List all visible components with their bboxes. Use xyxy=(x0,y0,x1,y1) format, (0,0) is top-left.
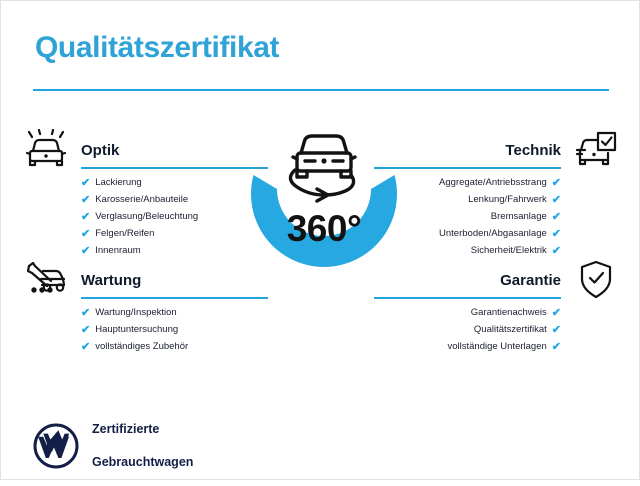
certificate-page: Qualitätszertifikat xyxy=(0,0,640,480)
list-item: vollständige Unterlagen✔ xyxy=(374,339,561,356)
list-item-label: Garantienachweis xyxy=(471,308,547,318)
list-item: Qualitätszertifikat✔ xyxy=(374,322,561,339)
footer-line-1: Zertifizierte xyxy=(92,421,193,437)
list-item-label: vollständige Unterlagen xyxy=(447,342,546,352)
check-icon: ✔ xyxy=(552,246,561,257)
section-title-technik: Technik xyxy=(505,142,561,159)
vw-footer: Zertifizierte Gebrauchtwagen xyxy=(33,405,193,486)
check-icon: ✔ xyxy=(552,212,561,223)
car-shine-icon xyxy=(23,129,69,171)
list-item-label: Unterboden/Abgasanlage xyxy=(439,229,547,239)
list-item-label: Sicherheit/Elektrik xyxy=(471,246,547,256)
check-icon: ✔ xyxy=(81,246,90,257)
footer-line-2: Gebrauchtwagen xyxy=(92,454,193,470)
list-item-label: Karosserie/Anbauteile xyxy=(95,195,188,205)
check-icon: ✔ xyxy=(552,195,561,206)
section-title-optik: Optik xyxy=(81,142,119,159)
car-checkbox-icon xyxy=(573,129,619,171)
car-rotate-360-icon xyxy=(290,136,355,201)
section-title-garantie: Garantie xyxy=(500,272,561,289)
check-icon: ✔ xyxy=(81,212,90,223)
check-icon: ✔ xyxy=(81,229,90,240)
page-title: Qualitätszertifikat xyxy=(35,31,279,65)
title-divider xyxy=(33,89,609,91)
list-item: ✔Hauptuntersuchung xyxy=(81,322,268,339)
list-item-label: Wartung/Inspektion xyxy=(95,308,177,318)
check-icon: ✔ xyxy=(552,325,561,336)
badge-360-gebrauchtwagen-check: Gebrauchtwagen-Check 360° xyxy=(229,113,419,313)
badge-center-label: 360° xyxy=(287,208,362,249)
footer-label: Zertifizierte Gebrauchtwagen xyxy=(92,405,193,486)
check-icon: ✔ xyxy=(81,178,90,189)
car-service-wrench-icon xyxy=(23,259,69,301)
check-icon: ✔ xyxy=(81,342,90,353)
list-item-label: Felgen/Reifen xyxy=(95,229,154,239)
list-item-label: vollständiges Zubehör xyxy=(95,342,188,352)
section-title-wartung: Wartung xyxy=(81,272,141,289)
list-item-label: Lackierung xyxy=(95,178,141,188)
check-icon: ✔ xyxy=(552,342,561,353)
list-item-label: Innenraum xyxy=(95,246,140,256)
list-item-label: Qualitätszertifikat xyxy=(474,325,547,335)
check-icon: ✔ xyxy=(552,229,561,240)
vw-logo xyxy=(33,423,79,469)
list-item-label: Lenkung/Fahrwerk xyxy=(468,195,547,205)
list-item: ✔vollständiges Zubehör xyxy=(81,339,268,356)
car-emblem-dot xyxy=(321,158,326,163)
list-item-label: Bremsanlage xyxy=(491,212,547,222)
list-item-label: Hauptuntersuchung xyxy=(95,325,178,335)
list-item-label: Verglasung/Beleuchtung xyxy=(95,212,198,222)
check-icon: ✔ xyxy=(81,325,90,336)
check-icon: ✔ xyxy=(81,308,90,319)
list-item-label: Aggregate/Antriebsstrang xyxy=(439,178,547,188)
check-icon: ✔ xyxy=(552,178,561,189)
check-icon: ✔ xyxy=(552,308,561,319)
check-icon: ✔ xyxy=(81,195,90,206)
shield-check-icon xyxy=(573,259,619,301)
